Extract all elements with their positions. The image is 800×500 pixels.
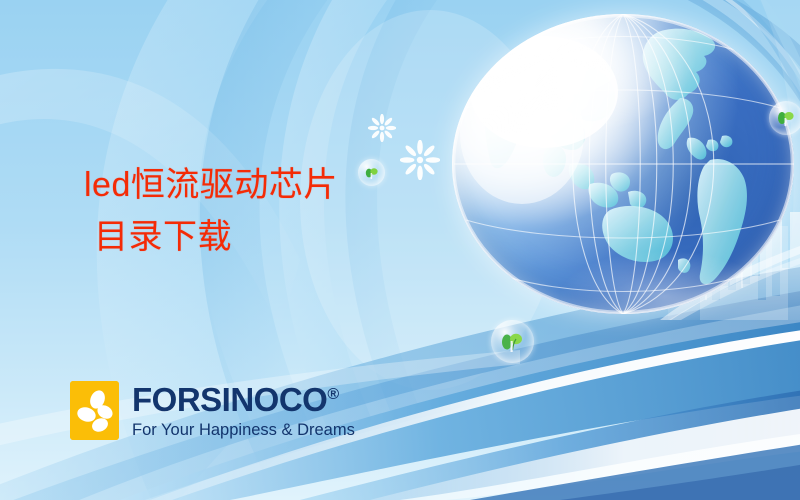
company-logo: FORSINOCO® For Your Happiness & Dreams (70, 381, 355, 440)
globe-continents-and-grid (452, 14, 794, 314)
earth-globe (452, 14, 794, 314)
logo-company-name: FORSINOCO® (132, 383, 355, 416)
logo-text-block: FORSINOCO® For Your Happiness & Dreams (132, 383, 355, 439)
eco-bubble-right (769, 101, 800, 135)
logo-company-name-text: FORSINOCO (132, 381, 327, 418)
eco-bubble-center (491, 320, 534, 363)
green-sprout-icon (769, 101, 800, 135)
four-petal-pinwheel-logo-icon (70, 381, 119, 440)
headline-line-2: 目录下载 (84, 212, 414, 264)
promo-banner: led恒流驱动芯片 目录下载 FORSINOCO® For Your Happi… (0, 0, 800, 500)
starburst-small-icon (368, 114, 396, 142)
headline-line-1: led恒流驱动芯片 (84, 160, 414, 212)
logo-tagline: For Your Happiness & Dreams (132, 422, 355, 439)
green-sprout-icon (491, 320, 534, 363)
headline: led恒流驱动芯片 目录下载 (84, 160, 414, 263)
registered-trademark-symbol: ® (327, 386, 339, 403)
